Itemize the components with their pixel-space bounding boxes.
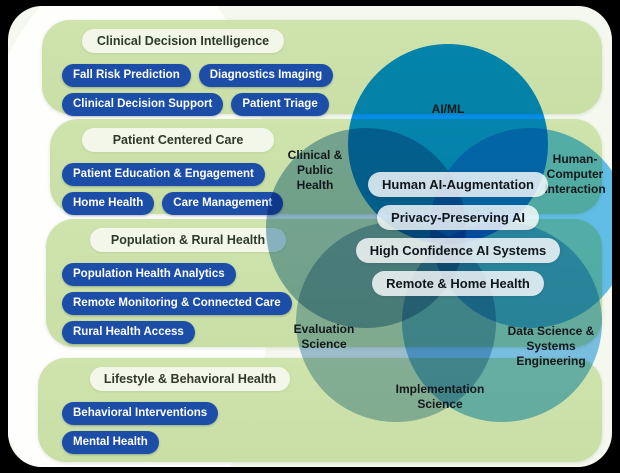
venn-label-implementation-science: Implementation Science: [374, 382, 506, 412]
venn-label-clinical-public-health: Clinical & Public Health: [276, 148, 354, 193]
venn-label-evaluation-science: Evaluation Science: [278, 322, 370, 352]
panel-title: Clinical Decision Intelligence: [82, 29, 284, 53]
tag-row: Mental Health: [62, 431, 159, 454]
tag-row: Home Health Care Management: [62, 192, 283, 215]
venn-diagram: AI/ML Clinical & Public Health Human- Co…: [256, 24, 612, 444]
intersection-pill[interactable]: High Confidence AI Systems: [356, 238, 561, 263]
tag-item[interactable]: Mental Health: [62, 431, 159, 454]
tag-item[interactable]: Fall Risk Prediction: [62, 64, 191, 87]
tag-row: Patient Education & Engagement: [62, 163, 265, 186]
tag-item[interactable]: Patient Education & Engagement: [62, 163, 265, 186]
venn-intersection-labels: Human AI-Augmentation Privacy-Preserving…: [354, 172, 562, 296]
tag-item[interactable]: Clinical Decision Support: [62, 93, 223, 116]
intersection-pill[interactable]: Remote & Home Health: [372, 271, 544, 296]
venn-label-data-science-systems-engineering: Data Science & Systems Engineering: [496, 324, 606, 369]
tag-item[interactable]: Population Health Analytics: [62, 263, 236, 286]
intersection-pill[interactable]: Human AI-Augmentation: [368, 172, 548, 197]
venn-label-aiml: AI/ML: [402, 102, 494, 117]
tag-item[interactable]: Home Health: [62, 192, 154, 215]
tag-item[interactable]: Behavioral Interventions: [62, 402, 218, 425]
tag-row: Behavioral Interventions: [62, 402, 218, 425]
panel-title: Patient Centered Care: [82, 128, 274, 152]
tag-row: Rural Health Access: [62, 321, 195, 344]
content-card: Clinical Decision Intelligence Fall Risk…: [8, 6, 612, 467]
tag-row: Population Health Analytics: [62, 263, 236, 286]
diagram-canvas: Clinical Decision Intelligence Fall Risk…: [0, 0, 620, 473]
intersection-pill[interactable]: Privacy-Preserving AI: [377, 205, 539, 230]
tag-item[interactable]: Rural Health Access: [62, 321, 195, 344]
